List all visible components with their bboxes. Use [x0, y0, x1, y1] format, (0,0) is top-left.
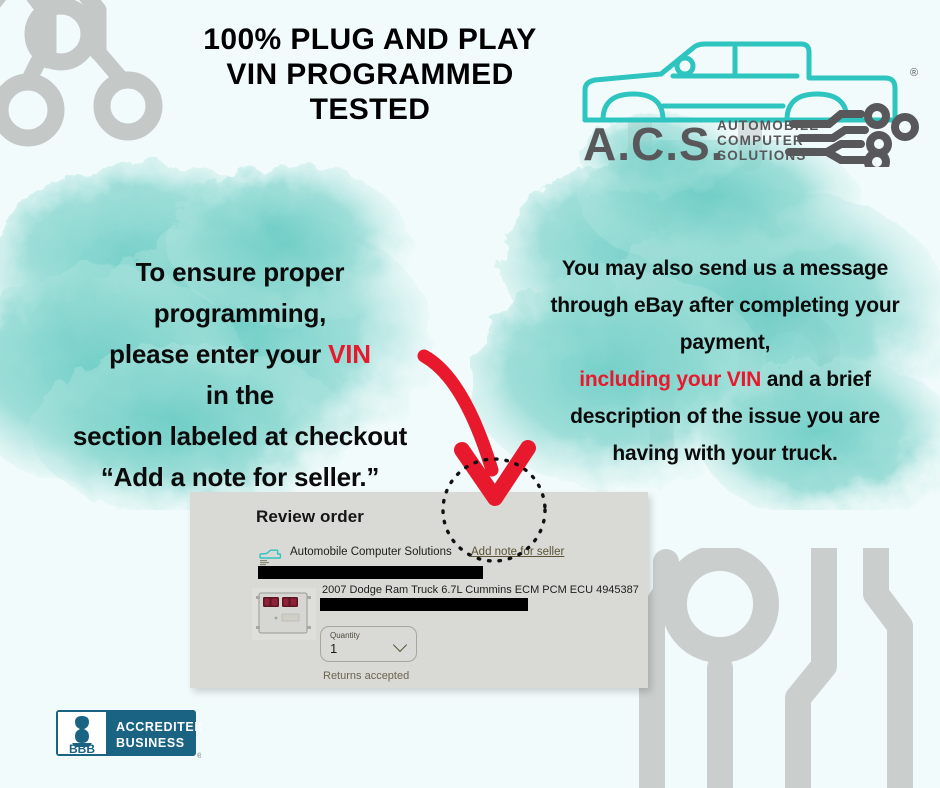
- product-title: 2007 Dodge Ram Truck 6.7L Cummins ECM PC…: [322, 584, 639, 596]
- left-line-3: please enter your VIN: [20, 334, 460, 375]
- logo-tagline-2: COMPUTER: [717, 133, 804, 148]
- left-line-5: section labeled at checkout: [20, 416, 460, 457]
- redaction-bar-seller: [258, 566, 483, 579]
- poster-canvas: 100% PLUG AND PLAY VIN PROGRAMMED TESTED…: [0, 0, 940, 788]
- headline-line-1: 100% PLUG AND PLAY: [120, 22, 620, 57]
- review-order-heading: Review order: [256, 507, 364, 527]
- left-line-1: To ensure proper: [20, 252, 460, 293]
- right-line-6: having with your truck.: [520, 435, 930, 472]
- right-line-1: You may also send us a message: [520, 250, 930, 287]
- seller-avatar-truck-icon: [258, 546, 282, 566]
- product-thumbnail-ecm: [252, 588, 316, 640]
- returns-accepted-text: Returns accepted: [323, 670, 409, 682]
- left-instruction-text: To ensure proper programming, please ent…: [20, 252, 460, 498]
- right-line-5: description of the issue you are: [520, 398, 930, 435]
- bbb-initials: BBB: [69, 742, 95, 756]
- right-line-4-post: and a brief: [761, 368, 871, 391]
- quantity-value: 1: [330, 641, 337, 656]
- left-line-2: programming,: [20, 293, 460, 334]
- acs-logo: ® A.C.S. AUTOMOBILE COMPUTER SOLUTIONS: [565, 32, 925, 167]
- right-instruction-text: You may also send us a message through e…: [520, 250, 930, 472]
- logo-circuit-nodes: [868, 107, 915, 167]
- headline-line-2: VIN PROGRAMMED: [120, 57, 620, 92]
- circuit-decoration-bottom-right: [608, 548, 940, 788]
- headline-line-3: TESTED: [120, 92, 620, 127]
- checkout-screenshot-panel: Review order Automobile Computer Solutio…: [190, 492, 648, 688]
- quantity-dropdown[interactable]: Quantity 1: [320, 626, 417, 662]
- right-line-4: including your VIN and a brief: [520, 361, 930, 398]
- bbb-accredited-badge: BBB ACCREDITED BUSINESS ®: [56, 710, 201, 760]
- redaction-bar-price: [320, 598, 528, 611]
- vin-highlight-right: including your VIN: [579, 368, 761, 391]
- seller-name: Automobile Computer Solutions: [290, 546, 452, 558]
- truck-outline-icon: [585, 44, 895, 120]
- quantity-label: Quantity: [330, 631, 360, 640]
- headline: 100% PLUG AND PLAY VIN PROGRAMMED TESTED: [120, 22, 620, 127]
- logo-initials: A.C.S.: [583, 118, 724, 167]
- vin-highlight-left: VIN: [328, 339, 371, 369]
- red-arrow-head: [462, 448, 528, 498]
- bbb-line-1: ACCREDITED: [116, 720, 201, 734]
- left-line-4: in the: [20, 375, 460, 416]
- chevron-down-icon: [393, 638, 407, 652]
- bbb-registered-mark: ®: [197, 752, 201, 760]
- right-line-2: through eBay after completing your: [520, 287, 930, 324]
- add-note-for-seller-link[interactable]: Add note for seller: [471, 546, 564, 558]
- registered-mark: ®: [910, 67, 918, 79]
- left-line-3-pre: please enter your: [109, 339, 328, 369]
- right-line-3: payment,: [520, 324, 930, 361]
- bbb-line-2: BUSINESS: [116, 736, 185, 750]
